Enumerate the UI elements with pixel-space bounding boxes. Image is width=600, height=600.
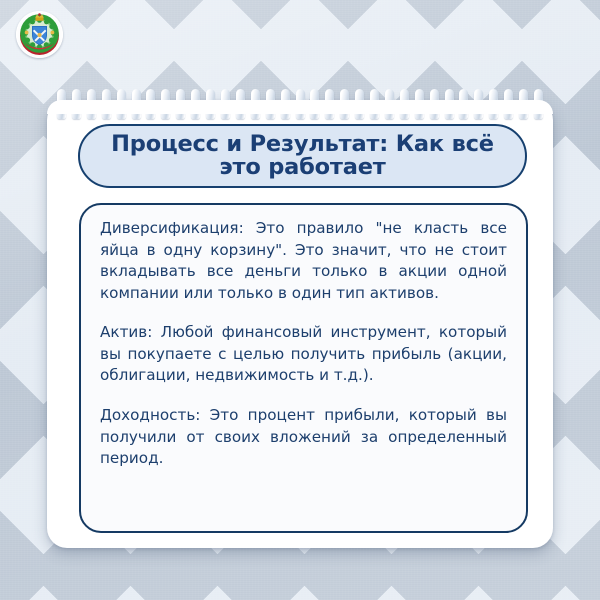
- definition-paragraph-asset: Актив: Любой финансовый инструмент, кото…: [100, 322, 507, 387]
- coat-of-arms-emblem-icon: [16, 11, 63, 58]
- definition-paragraph-yield: Доходность: Это процент прибыли, который…: [100, 405, 507, 470]
- notepad-card: Процесс и Результат: Как всё это работае…: [47, 100, 553, 548]
- page-title: Процесс и Результат: Как всё это работае…: [94, 133, 511, 179]
- definition-paragraph-diversification: Диверсификация: Это правило "не класть в…: [100, 218, 507, 304]
- slide-canvas: Процесс и Результат: Как всё это работае…: [0, 0, 600, 600]
- content-box: Диверсификация: Это правило "не класть в…: [79, 203, 528, 533]
- binding-top-edge: [47, 100, 553, 114]
- title-pill: Процесс и Результат: Как всё это работае…: [78, 124, 527, 188]
